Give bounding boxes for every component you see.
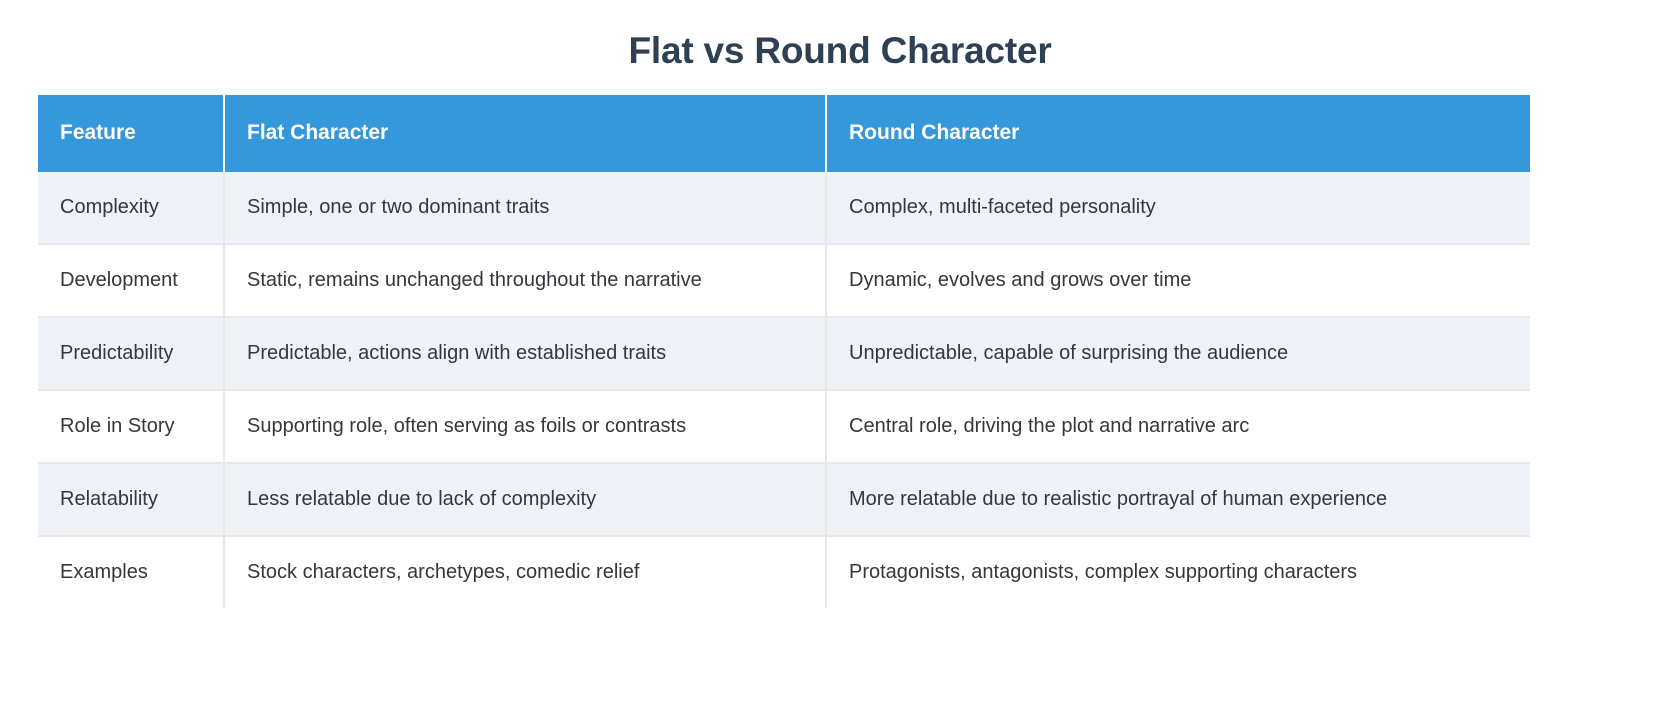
cell-feature: Role in Story — [38, 390, 224, 463]
cell-flat-character: Predictable, actions align with establis… — [224, 317, 826, 390]
table-header-row: Feature Flat Character Round Character — [38, 95, 1530, 172]
table-row: Examples Stock characters, archetypes, c… — [38, 536, 1530, 608]
table-body: Complexity Simple, one or two dominant t… — [38, 172, 1530, 608]
cell-round-character: Protagonists, antagonists, complex suppo… — [826, 536, 1530, 608]
cell-round-character: More relatable due to realistic portraya… — [826, 463, 1530, 536]
table-header: Feature Flat Character Round Character — [38, 95, 1530, 172]
cell-flat-character: Static, remains unchanged throughout the… — [224, 244, 826, 317]
cell-feature: Predictability — [38, 317, 224, 390]
cell-flat-character: Supporting role, often serving as foils … — [224, 390, 826, 463]
cell-flat-character: Simple, one or two dominant traits — [224, 172, 826, 244]
table-row: Development Static, remains unchanged th… — [38, 244, 1530, 317]
column-header-round-character: Round Character — [826, 95, 1530, 172]
cell-round-character: Central role, driving the plot and narra… — [826, 390, 1530, 463]
comparison-table-container: Feature Flat Character Round Character C… — [38, 95, 1530, 608]
table-row: Role in Story Supporting role, often ser… — [38, 390, 1530, 463]
cell-feature: Complexity — [38, 172, 224, 244]
table-row: Relatability Less relatable due to lack … — [38, 463, 1530, 536]
cell-feature: Examples — [38, 536, 224, 608]
cell-feature: Development — [38, 244, 224, 317]
column-header-flat-character: Flat Character — [224, 95, 826, 172]
cell-flat-character: Less relatable due to lack of complexity — [224, 463, 826, 536]
cell-flat-character: Stock characters, archetypes, comedic re… — [224, 536, 826, 608]
comparison-table: Feature Flat Character Round Character C… — [38, 95, 1530, 608]
page-title: Flat vs Round Character — [0, 0, 1680, 74]
table-row: Predictability Predictable, actions alig… — [38, 317, 1530, 390]
cell-round-character: Unpredictable, capable of surprising the… — [826, 317, 1530, 390]
page-root: Flat vs Round Character Feature Flat Cha… — [0, 0, 1680, 704]
table-row: Complexity Simple, one or two dominant t… — [38, 172, 1530, 244]
cell-feature: Relatability — [38, 463, 224, 536]
column-header-feature: Feature — [38, 95, 224, 172]
cell-round-character: Complex, multi-faceted personality — [826, 172, 1530, 244]
cell-round-character: Dynamic, evolves and grows over time — [826, 244, 1530, 317]
